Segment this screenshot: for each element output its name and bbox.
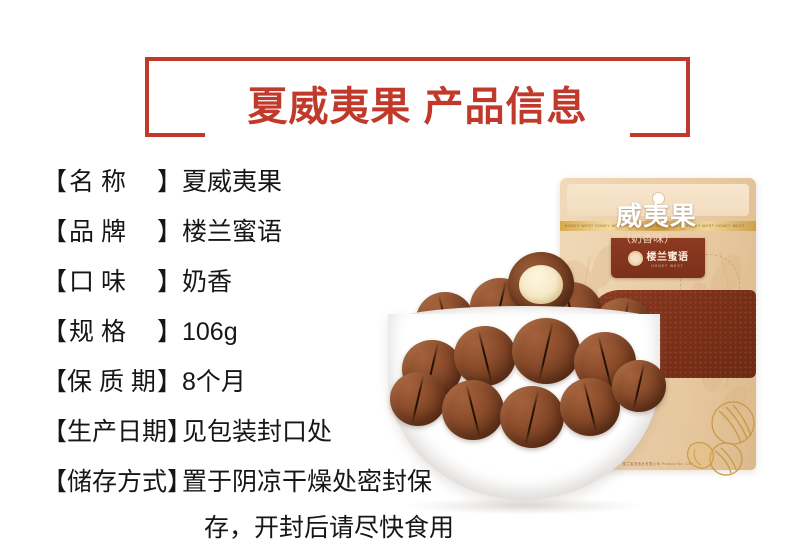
macadamia-nut bbox=[560, 378, 620, 436]
bracket-close-icon: 】 bbox=[157, 257, 182, 307]
bracket-open-icon: 【 bbox=[42, 307, 67, 357]
bracket-open-icon: 【 bbox=[42, 457, 67, 507]
spec-label-shelf-life: 【 保 质 期 】 bbox=[42, 357, 182, 407]
bracket-open-icon: 【 bbox=[42, 357, 67, 407]
bracket-close-icon: 】 bbox=[157, 157, 182, 207]
macadamia-nut bbox=[512, 318, 580, 384]
macadamia-nut bbox=[442, 380, 504, 440]
spec-label-spec: 【 规 格 】 bbox=[42, 307, 182, 357]
bracket-open-icon: 【 bbox=[42, 207, 67, 257]
macadamia-nut bbox=[612, 360, 666, 412]
bracket-close-icon: 】 bbox=[157, 207, 182, 257]
gold-nut-lineart-icon bbox=[671, 393, 786, 481]
spec-label-text: 品 牌 bbox=[67, 207, 157, 257]
macadamia-nut bbox=[390, 372, 446, 426]
spec-label-text: 保 质 期 bbox=[67, 357, 157, 407]
package-flavor-text: （奶香味） bbox=[620, 230, 675, 246]
spec-label-text: 储存方式 bbox=[67, 457, 167, 507]
spec-label-name: 【 名 称 】 bbox=[42, 157, 182, 207]
title-banner: 夏威夷果 产品信息 bbox=[145, 57, 690, 137]
spec-label-text: 生产日期 bbox=[67, 407, 167, 457]
bracket-open-icon: 【 bbox=[42, 407, 67, 457]
product-photo: HONEY WEST HONEY WEST HONEY WEST HONEY W… bbox=[388, 170, 790, 553]
banner-frame-top-line bbox=[145, 57, 690, 61]
spec-value-production-date: 见包装封口处 bbox=[182, 407, 332, 457]
macadamia-kernel bbox=[519, 265, 564, 305]
spec-label-brand: 【 品 牌 】 bbox=[42, 207, 182, 257]
spec-label-storage: 【 储存方式 】 bbox=[42, 457, 182, 507]
spec-label-flavor: 【 口 味 】 bbox=[42, 257, 182, 307]
bowl-drop-shadow bbox=[406, 498, 642, 514]
bowl-with-nuts bbox=[388, 248, 678, 508]
spec-label-text: 规 格 bbox=[67, 307, 157, 357]
page-title: 夏威夷果 产品信息 bbox=[145, 63, 690, 143]
bracket-open-icon: 【 bbox=[42, 257, 67, 307]
package-product-name: 威夷果 bbox=[616, 196, 697, 233]
spec-value-name: 夏威夷果 bbox=[182, 157, 282, 207]
spec-label-text: 口 味 bbox=[67, 257, 157, 307]
spec-label-text: 名 称 bbox=[67, 157, 157, 207]
bracket-close-icon: 】 bbox=[157, 357, 182, 407]
spec-value-shelf-life: 8个月 bbox=[182, 357, 246, 407]
macadamia-nut bbox=[454, 326, 516, 386]
spec-value-flavor: 奶香 bbox=[182, 257, 232, 307]
spec-label-production-date: 【 生产日期 】 bbox=[42, 407, 182, 457]
product-info-page: 夏威夷果 产品信息 【 名 称 】 夏威夷果 【 品 牌 】 楼兰蜜语 【 口 … bbox=[0, 0, 790, 553]
spec-value-brand: 楼兰蜜语 bbox=[182, 207, 282, 257]
spec-value-spec: 106g bbox=[182, 307, 238, 357]
macadamia-nut bbox=[500, 386, 564, 448]
bracket-open-icon: 【 bbox=[42, 157, 67, 207]
bracket-close-icon: 】 bbox=[157, 307, 182, 357]
